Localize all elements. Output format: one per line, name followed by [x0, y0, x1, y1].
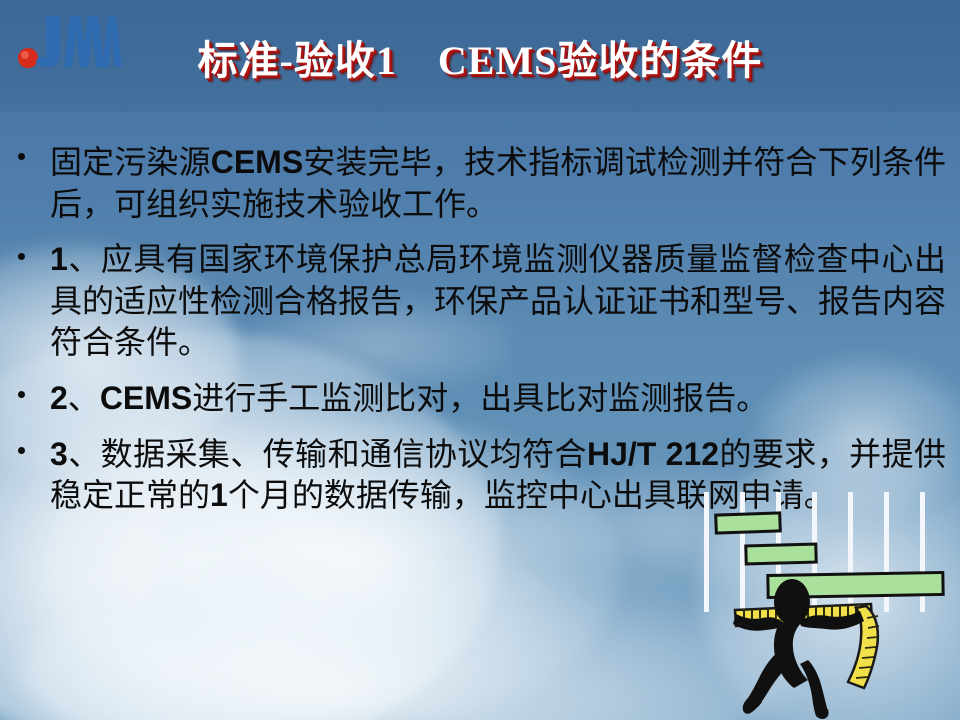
bullet-text-1: 固定污染源CEMS安装完毕，技术指标调试检测并符合下列条件后，可组织实施技术验收… — [50, 144, 946, 222]
page-title: 标准-验收1 CEMS验收的条件 — [0, 28, 960, 86]
bullet-text-2: 1、应具有国家环境保护总局环境监测仪器质量监督检查中心出具的适应性检测合格报告，… — [50, 241, 946, 360]
slide-canvas: 标准-验收1 CEMS验收的条件 固定污染源CEMS安装完毕，技术指标调试检测并… — [0, 0, 960, 720]
seg-latin: CEMS — [100, 380, 192, 416]
bullet-marker — [18, 253, 25, 260]
stick-figure-with-measuring-tape-icon — [688, 492, 960, 720]
bullet-text-3: 2、CEMS进行手工监测比对，出具比对监测报告。 — [50, 380, 768, 416]
seg-zh: 、应具有国家环境保护总局环境监测仪器质量监督检查中心出具的适应性检测合格报告，环… — [50, 241, 946, 360]
clipart-green-bars — [716, 513, 943, 598]
bullet-marker — [18, 447, 25, 454]
list-item: 2、CEMS进行手工监测比对，出具比对监测报告。 — [0, 378, 960, 420]
list-item: 1、应具有国家环境保护总局环境监测仪器质量监督检查中心出具的适应性检测合格报告，… — [0, 239, 960, 364]
clipart-stick-figure — [733, 579, 864, 719]
bullet-marker — [18, 153, 25, 160]
seg-latin: 3 — [50, 436, 68, 472]
list-item: 固定污染源CEMS安装完毕，技术指标调试检测并符合下列条件后，可组织实施技术验收… — [0, 140, 960, 225]
seg-zh: 固定污染源 — [50, 144, 211, 180]
seg-zh: 、数据采集、传输和通信协议均符合 — [68, 436, 587, 472]
seg-latin: HJ/T 212 — [587, 436, 719, 472]
bullet-list: 固定污染源CEMS安装完毕，技术指标调试检测并符合下列条件后，可组织实施技术验收… — [0, 140, 960, 523]
seg-latin: 1 — [210, 477, 228, 513]
seg-latin: CEMS — [211, 144, 303, 180]
seg-zh: 进行手工监测比对，出具比对监测报告。 — [192, 380, 768, 416]
seg-latin: 2 — [50, 380, 68, 416]
cloud-bottom-wide — [20, 560, 800, 720]
seg-zh: 、 — [68, 380, 100, 416]
bullet-marker — [18, 391, 25, 398]
seg-latin: 1 — [50, 241, 68, 277]
